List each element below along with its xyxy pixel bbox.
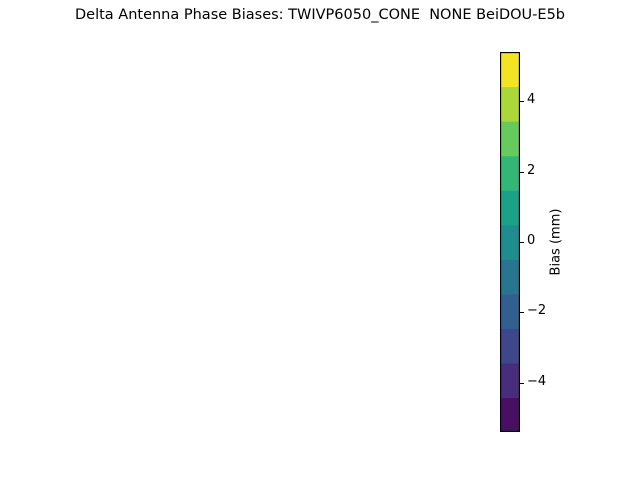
polar-axes[interactable] xyxy=(105,55,476,426)
colorbar-band xyxy=(500,52,520,87)
colorbar-tick-label: 2 xyxy=(527,163,535,178)
colorbar-tick-mark xyxy=(520,383,524,384)
colorbar-band xyxy=(500,121,520,156)
colorbar-axis-label: Bias (mm) xyxy=(549,209,564,276)
page-title: Delta Antenna Phase Biases: TWIVP6050_CO… xyxy=(0,7,640,23)
colorbar-band xyxy=(500,294,520,329)
polar-plot-svg xyxy=(105,55,476,426)
colorbar-gradient xyxy=(500,52,520,432)
colorbar-tick-mark xyxy=(520,242,524,243)
colorbar-tick-label: 0 xyxy=(527,233,535,248)
colorbar-band xyxy=(500,225,520,260)
colorbar-band xyxy=(500,259,520,294)
colorbar-band xyxy=(500,328,520,363)
colorbar-band xyxy=(500,156,520,191)
figure-canvas: Delta Antenna Phase Biases: TWIVP6050_CO… xyxy=(0,0,640,480)
colorbar-tick-mark xyxy=(520,172,524,173)
colorbar-tick-mark xyxy=(520,101,524,102)
colorbar-tick-label: 4 xyxy=(527,92,535,107)
colorbar-band xyxy=(500,363,520,398)
colorbar-band xyxy=(500,190,520,225)
colorbar-band xyxy=(500,397,520,432)
colorbar-tick-label: −2 xyxy=(527,303,546,318)
colorbar-tick-label: −4 xyxy=(527,374,546,389)
colorbar[interactable] xyxy=(500,52,520,432)
colorbar-band xyxy=(500,87,520,122)
colorbar-tick-mark xyxy=(520,312,524,313)
